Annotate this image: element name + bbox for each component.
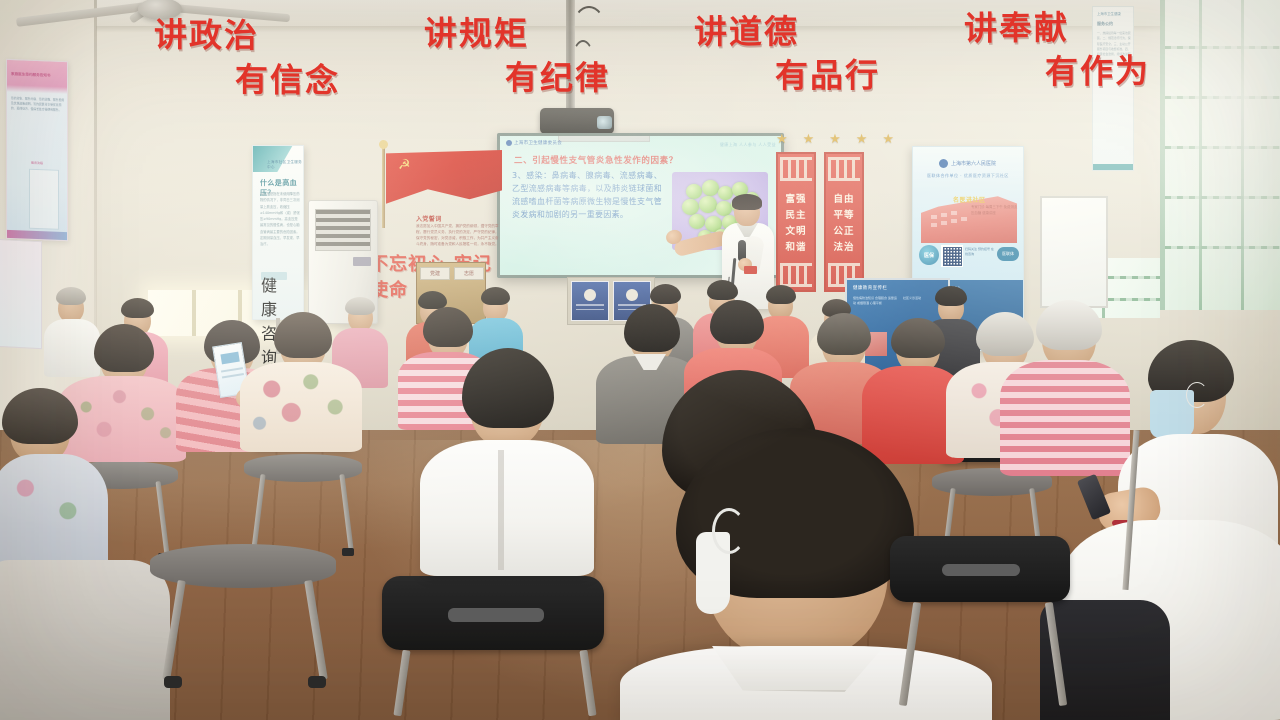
party-oath-body: 我志愿加入中国共产党，拥护党的纲领，遵守党的章程，履行党员义务，执行党的决定，严… xyxy=(416,224,502,248)
panel-ornament-top-right xyxy=(828,157,860,181)
slogan-2-line1: 讲规矩 xyxy=(420,12,620,56)
slogan-1-line2: 有信念 xyxy=(150,56,350,102)
poster-left-caption: 服务流程 xyxy=(31,161,43,165)
poster-left-body: 签约对象、服务内容、签约流程、服务费用及优惠政策说明。签约居民可享受优先预约、延… xyxy=(11,96,65,113)
lectern-plate-left: 党建 xyxy=(420,267,450,280)
rollup-right-subtitle: 医联体合作单位 · 优质医疗资源下沉社区 xyxy=(927,173,1009,179)
insurance-badge: 医保 xyxy=(919,245,939,265)
ac-display-panel xyxy=(353,257,371,266)
slogan-1-line1: 讲政治 xyxy=(150,13,350,59)
window-grille-icon xyxy=(1165,0,1280,310)
audience-member-floral-2 xyxy=(240,318,364,450)
slogan-3: 讲道德 有品行 xyxy=(690,10,890,98)
wall-poster-left: 家庭医生签约服务告知书 签约对象、服务内容、签约流程、服务费用及优惠政策说明。签… xyxy=(6,59,68,241)
blue-board-title: 健康教育宣传栏 xyxy=(853,285,887,291)
star-icon-1: ★ xyxy=(776,133,788,146)
core-value-ziyou: 自由 xyxy=(833,191,854,205)
gold-stars-row: ★ ★ ★ ★ ★ xyxy=(776,133,894,146)
notice-footer-bar xyxy=(1093,164,1133,170)
ac-louvers-icon xyxy=(315,209,371,251)
rollup-right-logo: 上海市第六人民医院 xyxy=(939,159,996,168)
chair-foreground-right xyxy=(880,490,1080,720)
rollup-left-body: 高血压是指在未使用降压药物的情况下，非同日三次测量上肢血压，收缩压≥140mmH… xyxy=(260,191,300,247)
flag-pole xyxy=(382,144,385,228)
mask-ear-loop xyxy=(1186,382,1208,408)
window-right xyxy=(1160,0,1280,310)
wall-slogan-banner: 讲政治 有信念 讲规矩 有纪律 讲道德 有品行 讲奉献 有作为 xyxy=(150,14,1160,126)
lecture-room-photo: 上海市卫生健康 服务公约 一、热情接待每一位来访居民。二、规范诊疗行为，保障医疗… xyxy=(0,0,1280,720)
hospital-logo-icon xyxy=(939,159,948,168)
slogan-1: 讲政治 有信念 xyxy=(150,13,350,102)
audience-member-front-white-shirt xyxy=(420,360,596,574)
star-icon-2: ★ xyxy=(803,133,815,146)
star-icon-3: ★ xyxy=(829,133,841,146)
qr-code-icon xyxy=(941,245,963,267)
star-icon-5: ★ xyxy=(882,133,894,146)
hammer-sickle-icon: ☭ xyxy=(398,158,418,174)
slogan-2-line2: 有纪律 xyxy=(420,55,620,99)
rollup-right-info: 扫码关注 预约挂号 在线咨询 xyxy=(965,247,995,257)
chair-foreground-left xyxy=(150,448,340,688)
rollup-right-headline: 名医进社区 xyxy=(953,195,986,204)
rollup-left-cta: 健康咨询 xyxy=(261,272,287,280)
core-value-fazhi: 法治 xyxy=(833,239,854,253)
slogan-4-line2: 有作为 xyxy=(960,49,1160,94)
mask-ear-loop-front xyxy=(712,508,746,554)
slogan-4-line1: 讲奉献 xyxy=(960,5,1160,50)
core-value-gongzheng: 公正 xyxy=(833,223,854,237)
medical-alliance-badge: 医联体 xyxy=(997,247,1019,261)
poster-left-footer xyxy=(7,230,67,240)
flag-finial xyxy=(379,140,388,149)
core-values-panel-right: 自由 平等 公正 法治 xyxy=(824,152,864,292)
party-oath-title: 入党誓词 xyxy=(416,214,442,223)
shirt-back-seam xyxy=(498,450,504,570)
slogan-3-line1: 讲道德 xyxy=(690,10,890,54)
panel-ornament-top-left xyxy=(780,157,812,181)
rollup-right-detail-text: 专家门诊 每周三下午 免费测血压血糖 健康讲座 xyxy=(971,205,1019,217)
presenter-name-badge xyxy=(744,266,757,274)
presenter-hair xyxy=(732,194,762,210)
rollup-left-logo: 上海市社区卫生服务中心 xyxy=(267,160,303,170)
whiteboard xyxy=(1040,196,1108,308)
core-value-pingdeng: 平等 xyxy=(833,207,854,221)
poster-left-flowchart xyxy=(29,169,59,230)
wall-poster-left-lower xyxy=(0,239,42,349)
foreground-seat-left xyxy=(0,560,170,720)
slogan-3-line2: 有品行 xyxy=(690,53,890,97)
star-icon-4: ★ xyxy=(856,133,868,146)
audience-member-pink-striped xyxy=(1000,306,1132,474)
rollup-banner-left: 上海市社区卫生服务中心 什么是高血压？ 高血压是指在未使用降压药物的情况下，非同… xyxy=(252,145,304,320)
rollup-right-logo-text: 上海市第六人民医院 xyxy=(951,160,996,167)
slogan-2: 讲规矩 有纪律 xyxy=(420,12,620,100)
slogan-4: 讲奉献 有作为 xyxy=(960,5,1160,94)
lectern-plate-right: 志愿 xyxy=(454,267,484,280)
poster-left-title: 家庭医生签约服务告知书 xyxy=(11,72,65,80)
